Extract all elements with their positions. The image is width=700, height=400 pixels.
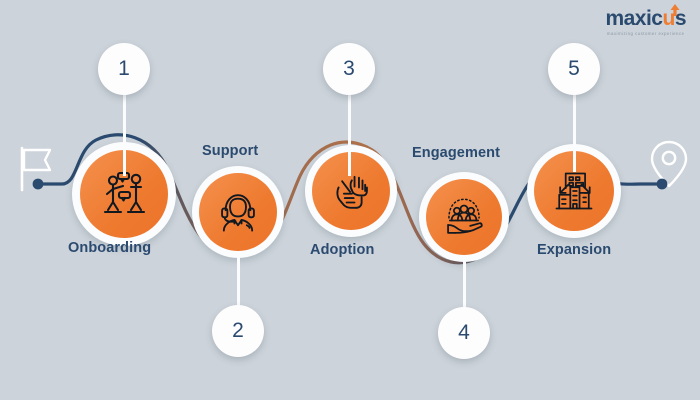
stage-5-number: 5 <box>568 57 580 81</box>
headset-agent-icon <box>199 173 277 251</box>
logo-arrow-icon <box>669 3 681 17</box>
stage-4-label: Engagement <box>412 145 500 161</box>
stage-2-stem <box>237 252 240 308</box>
stage-5-label: Expansion <box>537 242 611 258</box>
end-dot <box>657 179 668 190</box>
stage-3-badge: 3 <box>323 43 375 95</box>
stage-3-number: 3 <box>343 57 355 81</box>
stage-5-stem <box>573 92 576 172</box>
maxicus-logo: maxicus maximizing customer experience <box>605 8 686 36</box>
stage-2-badge: 2 <box>212 305 264 357</box>
logo-tagline: maximizing customer experience <box>605 32 686 36</box>
stage-3-label: Adoption <box>310 242 374 258</box>
handshake-icon <box>312 152 390 230</box>
hand-holding-people-icon <box>426 179 502 255</box>
start-dot <box>33 179 44 190</box>
stage-2-number: 2 <box>232 319 244 343</box>
logo-word-part1: maxic <box>605 7 662 30</box>
stage-4-number: 4 <box>458 321 470 345</box>
stage-5-badge: 5 <box>548 43 600 95</box>
stage-1-number: 1 <box>118 57 130 81</box>
stage-4-badge: 4 <box>438 307 490 359</box>
customer-journey-infographic: 1 <box>0 0 700 400</box>
stage-4-stem <box>463 256 466 310</box>
logo-wordmark: maxicus <box>605 8 686 29</box>
stage-1-label: Onboarding <box>68 240 151 256</box>
stage-1-badge: 1 <box>98 43 150 95</box>
stage-1-stem <box>123 92 126 176</box>
stage-3-stem <box>348 92 351 176</box>
stage-2-label: Support <box>202 143 258 159</box>
map-pin-icon <box>652 142 686 186</box>
